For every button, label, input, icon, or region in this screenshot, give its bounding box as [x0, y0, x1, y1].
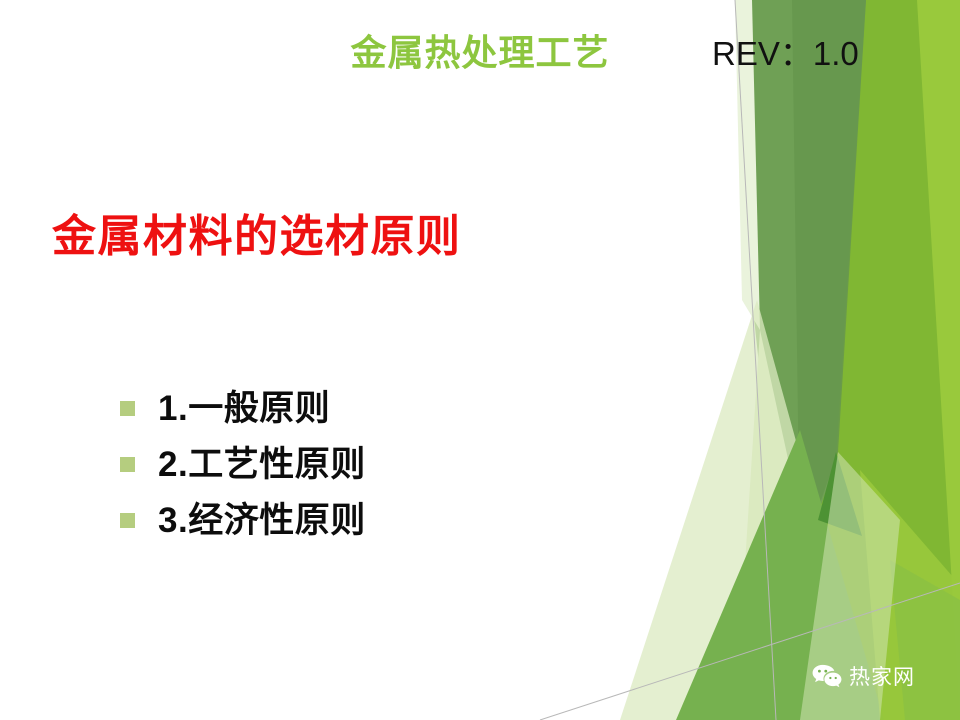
deco-hairline-steep [735, 0, 776, 720]
list-item: 2.工艺性原则 [120, 436, 366, 492]
list-item-label: 1.一般原则 [158, 391, 330, 426]
square-bullet-icon [120, 457, 135, 472]
square-bullet-icon [120, 513, 135, 528]
main-heading: 金属材料的选材原则 [52, 212, 462, 263]
slide-canvas: 金属热处理工艺 REV：1.0 金属材料的选材原则 1.一般原则 2.工艺性原则… [0, 0, 960, 720]
deco-shape-sage-dark-sliver [792, 0, 866, 560]
list-item-label: 2.工艺性原则 [158, 447, 366, 482]
square-bullet-icon [120, 401, 135, 416]
list-item: 3.经济性原则 [120, 492, 366, 548]
list-item-label: 3.经济性原则 [158, 503, 366, 538]
watermark: 热家网 [812, 664, 915, 690]
bullet-list: 1.一般原则 2.工艺性原则 3.经济性原则 [120, 380, 366, 548]
deco-shape-bright-band [790, 0, 960, 720]
deco-shape-paler-fan [620, 300, 840, 720]
decorative-green-polygons [0, 0, 960, 720]
deco-shape-light-right [852, 0, 960, 720]
watermark-label: 热家网 [849, 667, 915, 688]
deco-shape-deep-accent [818, 452, 862, 536]
wechat-icon [812, 664, 842, 690]
deco-hairline-shallow [540, 583, 960, 720]
deco-shape-bright-tail [890, 560, 960, 720]
list-item: 1.一般原则 [120, 380, 366, 436]
deco-shape-pale-lower-wedge [700, 330, 810, 720]
slide-title: 金属热处理工艺 [270, 33, 690, 73]
revision-label: REV：1.0 [712, 36, 859, 72]
deco-shape-sage-wedge [748, 0, 866, 612]
